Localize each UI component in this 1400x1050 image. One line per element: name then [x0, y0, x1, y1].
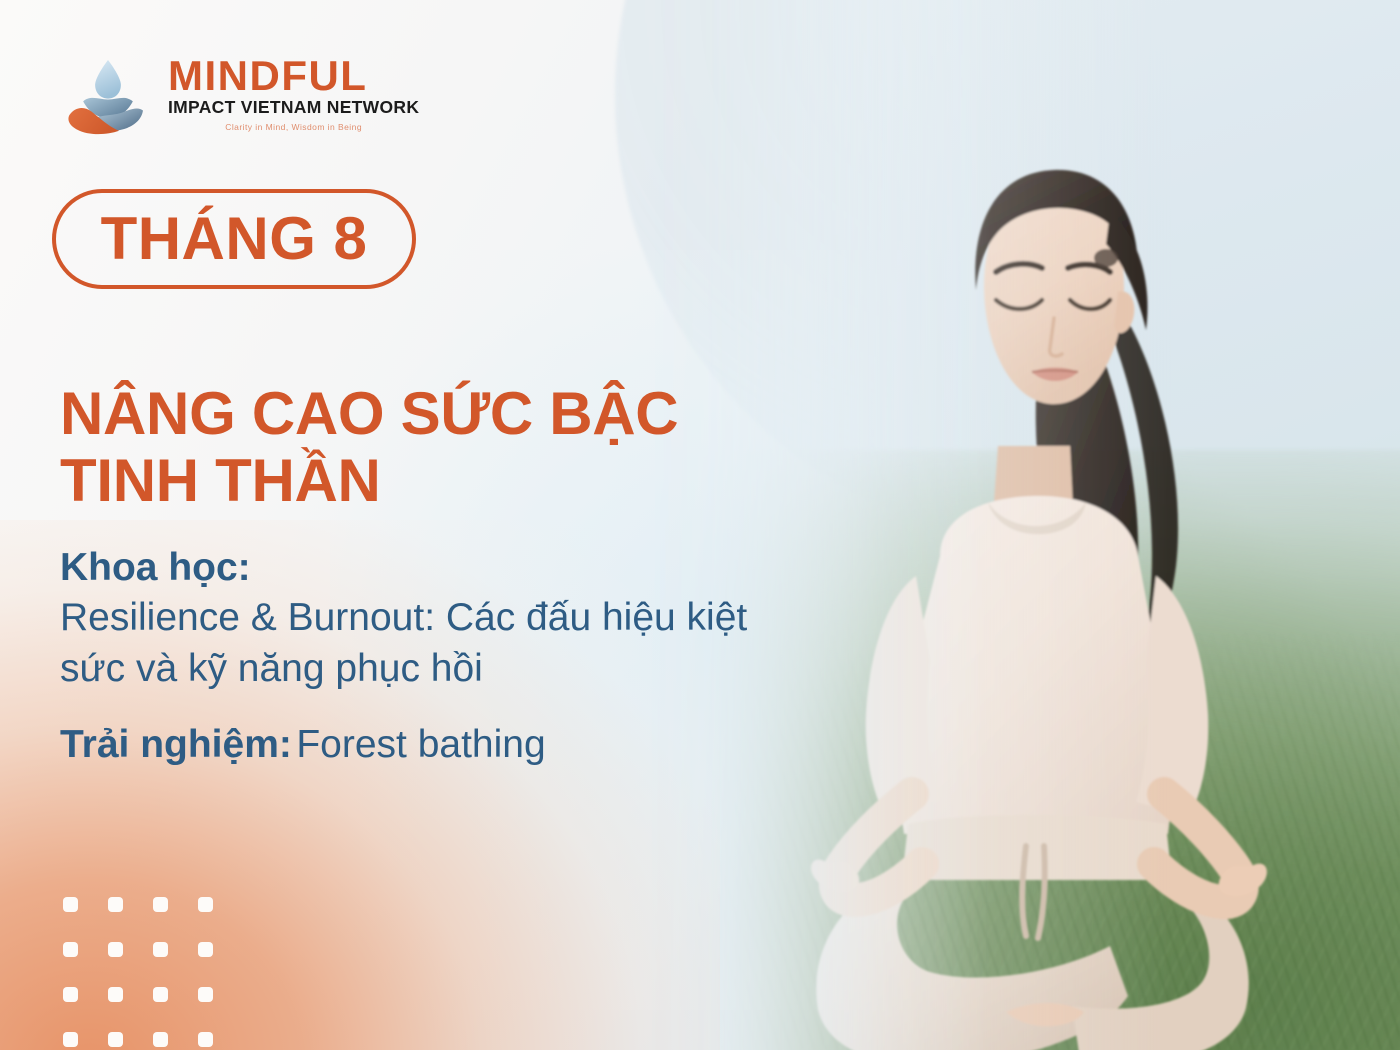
dot [198, 942, 213, 957]
dot [63, 1032, 78, 1047]
poster-canvas: MINDFUL IMPACT VIETNAM NETWORK Clarity i… [0, 0, 1400, 1050]
detail-text-experience: Forest bathing [296, 723, 545, 766]
dot [198, 987, 213, 1002]
dot [108, 942, 123, 957]
detail-label-experience: Trải nghiệm: [60, 723, 292, 766]
page-title: NÂNG CAO SỨC BẬC TINH THẦN [60, 380, 760, 514]
dot [153, 1032, 168, 1047]
brand-logo[interactable]: MINDFUL IMPACT VIETNAM NETWORK Clarity i… [62, 48, 419, 140]
month-badge-label: THÁNG 8 [101, 209, 368, 269]
detail-block-course: Khoa học: Resilience & Burnout: Các đấu … [60, 543, 750, 694]
decorative-dot-grid [63, 897, 243, 1050]
program-details: Khoa học: Resilience & Burnout: Các đấu … [60, 543, 750, 771]
logo-tagline: Clarity in Mind, Wisdom in Being [168, 122, 419, 132]
dot [198, 897, 213, 912]
dot [63, 987, 78, 1002]
dot [153, 987, 168, 1002]
dot [63, 897, 78, 912]
dot [108, 897, 123, 912]
dot [153, 942, 168, 957]
logo-subtitle: IMPACT VIETNAM NETWORK [168, 97, 419, 119]
meditation-photo [640, 0, 1400, 1050]
detail-block-experience: Trải nghiệm: Forest bathing [60, 720, 750, 771]
detail-label-course: Khoa học: [60, 543, 750, 593]
headline-line-1: NÂNG CAO SỨC BẬC [60, 380, 678, 447]
headline-line-2: TINH THẦN [60, 447, 381, 514]
dot [108, 987, 123, 1002]
dot [108, 1032, 123, 1047]
logo-wordmark-group: MINDFUL IMPACT VIETNAM NETWORK Clarity i… [168, 56, 419, 132]
photo-left-fade [640, 0, 1400, 1050]
dot [153, 897, 168, 912]
logo-wordmark: MINDFUL [168, 56, 419, 96]
dot [198, 1032, 213, 1047]
meditating-figure-lotus-icon [62, 48, 154, 140]
dot [63, 942, 78, 957]
month-badge: THÁNG 8 [52, 189, 416, 289]
detail-text-course: Resilience & Burnout: Các đấu hiệu kiệt … [60, 593, 750, 694]
